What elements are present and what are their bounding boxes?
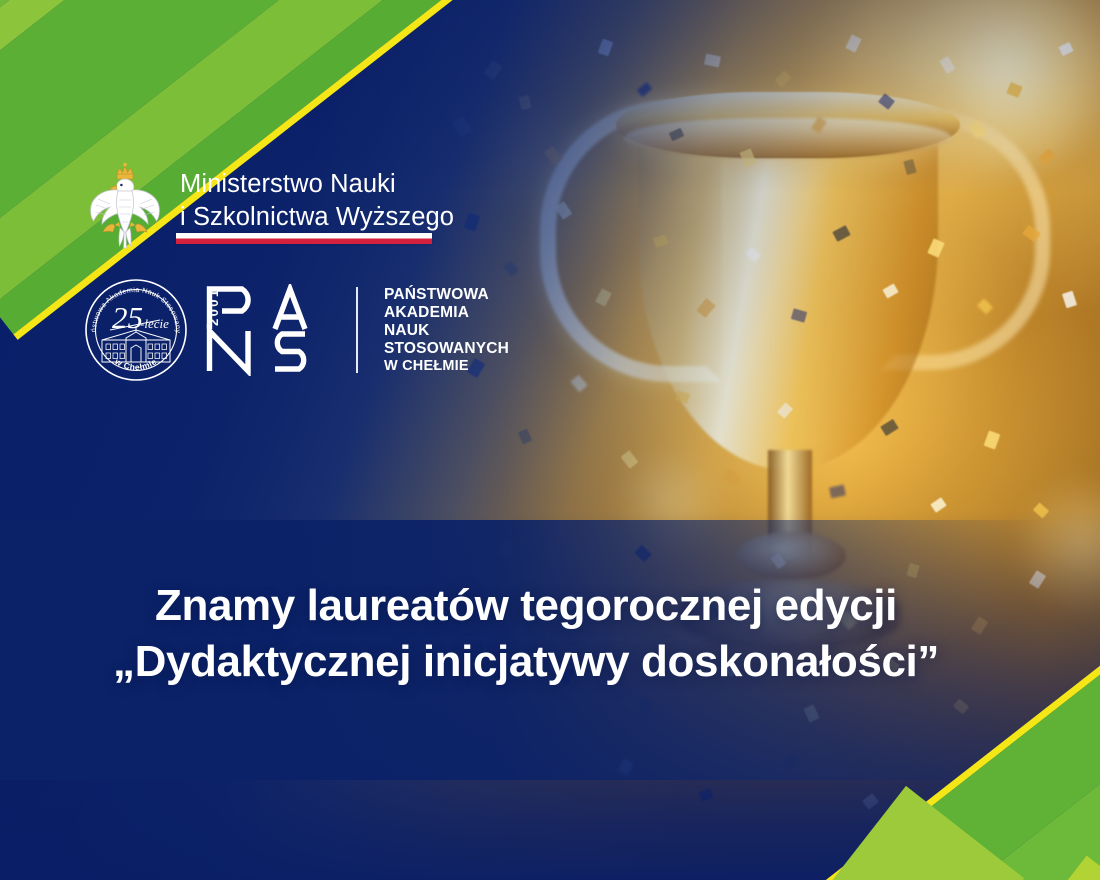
pans-wordmark: PAŃSTWOWA AKADEMIA NAUK STOSOWANYCH W CH… [384, 286, 509, 375]
headline: Znamy laureatów tegorocznej edycji „Dyda… [0, 578, 1052, 690]
ministry-line-1: Ministerstwo Nauki [180, 168, 454, 201]
headline-line-2: „Dydaktycznej inicjatywy doskonałości” [0, 634, 1052, 690]
pans-wordmark-line: AKADEMIA [384, 304, 509, 322]
pans-logo-divider [356, 287, 358, 373]
polish-white-eagle-icon [86, 162, 164, 250]
pans-logo: Państwowa Akademia Nauk Stosowanych w Ch… [82, 276, 509, 384]
pans-wordmark-line: PAŃSTWOWA [384, 286, 509, 304]
pans-seal-icon: Państwowa Akademia Nauk Stosowanych w Ch… [82, 276, 190, 384]
pans-wordmark-line: NAUK [384, 322, 509, 340]
pans-monogram: 2001 [204, 284, 336, 376]
pans-wordmark-line: STOSOWANYCH [384, 340, 509, 358]
ministry-name: Ministerstwo Nauki i Szkolnictwa Wyższeg… [180, 162, 454, 234]
ministry-line-2: i Szkolnictwa Wyższego [180, 201, 454, 234]
polish-flag-bar [176, 233, 432, 244]
svg-text:25: 25 [112, 300, 143, 335]
headline-line-1: Znamy laureatów tegorocznej edycji [155, 581, 897, 630]
svg-text:2001: 2001 [206, 287, 221, 326]
banner-canvas: Ministerstwo Nauki i Szkolnictwa Wyższeg… [0, 0, 1100, 880]
pans-wordmark-location: W CHEŁMIE [384, 358, 509, 375]
